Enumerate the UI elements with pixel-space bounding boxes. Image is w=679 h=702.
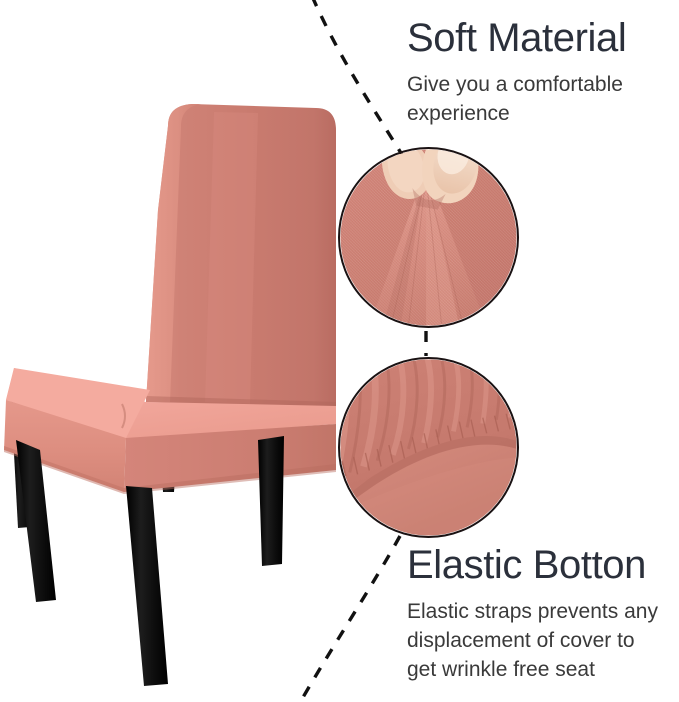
product-infographic: Soft Material Give you a comfortable exp… [0,0,679,702]
feature-block-elastic-bottom: Elastic Botton Elastic straps prevents a… [407,543,669,684]
chair-back [146,104,336,410]
feature-block-soft-material: Soft Material Give you a comfortable exp… [407,16,669,128]
feature-heading-elastic-bottom: Elastic Botton [407,543,669,587]
chair-product-image [0,0,340,702]
inset-photo-soft-material [338,147,519,328]
feature-description-elastic-bottom: Elastic straps prevents any displacement… [407,597,669,684]
feature-heading-soft-material: Soft Material [407,16,669,60]
feature-description-soft-material: Give you a comfortable experience [407,70,669,128]
inset-photo-elastic-bottom [338,357,519,538]
